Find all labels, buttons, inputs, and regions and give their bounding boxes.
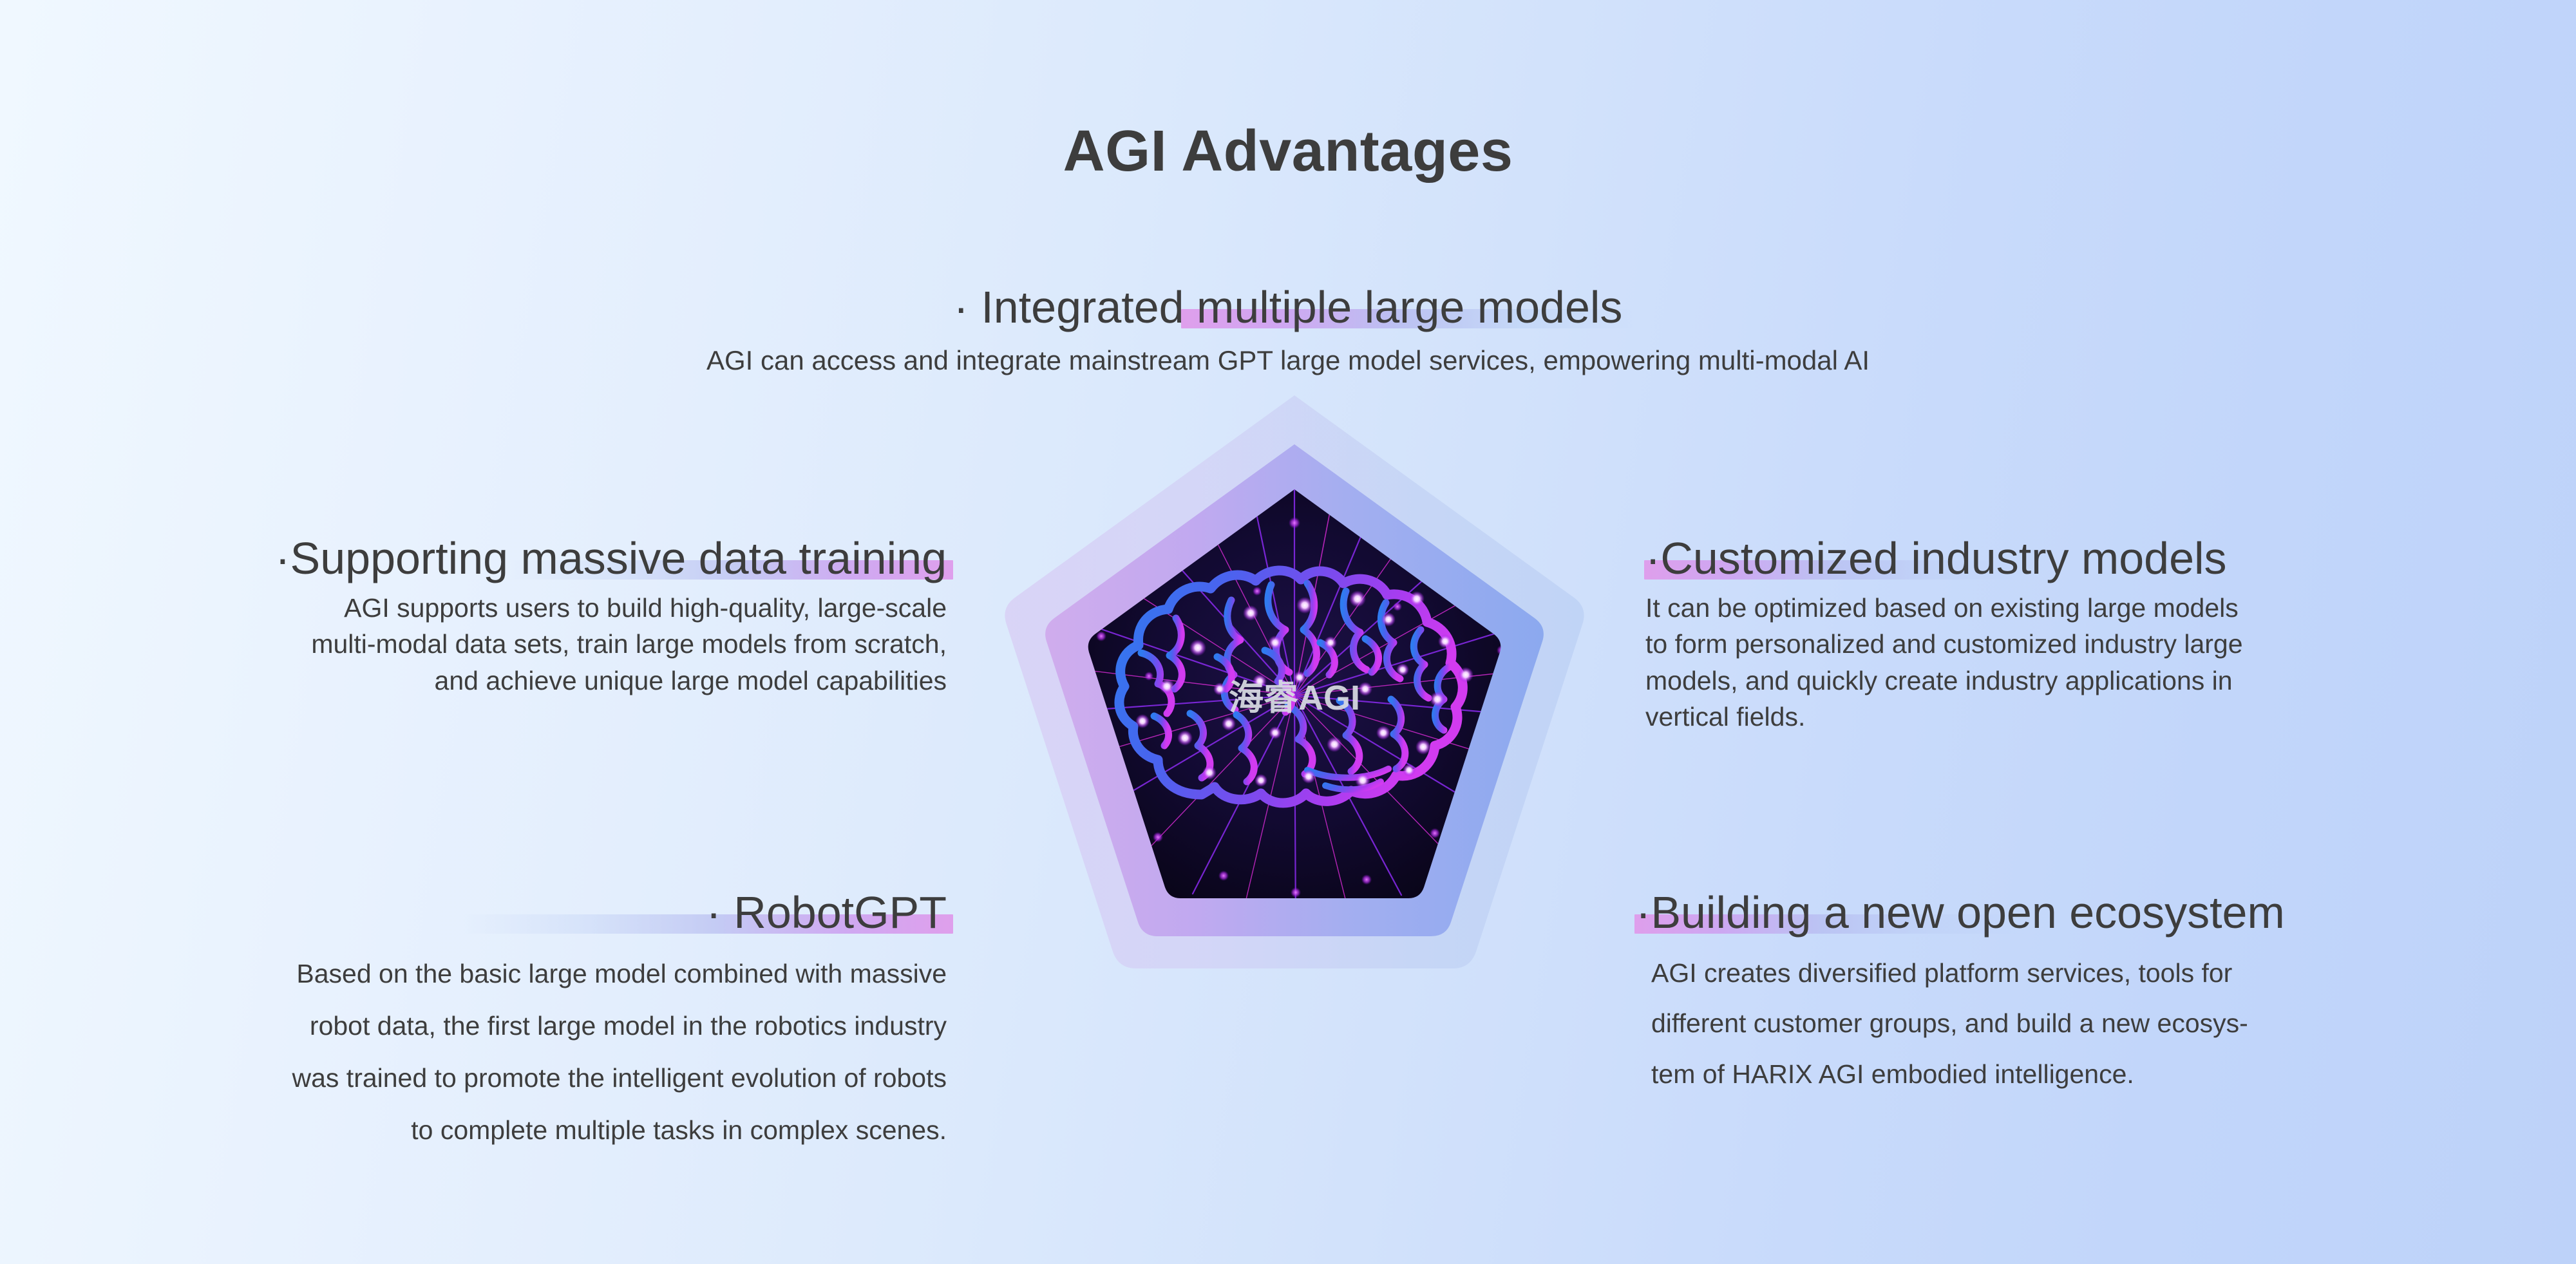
- feature-heading-right-2: ·Building a new open ecosystem: [1636, 887, 2285, 938]
- bullet-dot: ·: [1636, 887, 1651, 938]
- feature-heading-right-1: ·Customized industry models: [1645, 533, 2227, 583]
- agi-pentagon-brain-graphic: 海睿AGI: [1005, 386, 1584, 1095]
- feature-heading-wrap-right-1: ·Customized industry models: [1645, 534, 2227, 583]
- feature-heading-text: RobotGPT: [734, 887, 947, 938]
- feature-heading-text: Building a new open ecosystem: [1651, 887, 2284, 938]
- feature-heading-text: Customized industry models: [1660, 533, 2226, 583]
- feature-heading-top: · Integrated multiple large models: [954, 282, 1623, 332]
- feature-heading-wrap-left-1: ·Supporting massive data training: [275, 534, 947, 583]
- feature-heading-wrap-top: · Integrated multiple large models: [954, 283, 1623, 332]
- feature-block-left-1: ·Supporting massive data training AGI su…: [26, 534, 947, 699]
- feature-heading-left-1: ·Supporting massive data training: [275, 533, 947, 583]
- feature-heading-left-2: · RobotGPT: [706, 887, 947, 938]
- feature-heading-wrap-left-2: · RobotGPT: [706, 889, 947, 938]
- bullet-dot: ·: [1645, 533, 1660, 583]
- center-logo-text: 海睿AGI: [1229, 679, 1360, 717]
- feature-heading-text: Supporting massive data training: [290, 533, 947, 583]
- bullet-dot: ·: [954, 282, 969, 332]
- feature-block-right-2: ·Building a new open ecosystem AGI creat…: [1636, 889, 2563, 1100]
- feature-body-right-2: AGI creates diversified platform service…: [1636, 948, 2563, 1100]
- feature-block-right-1: ·Customized industry models It can be op…: [1645, 534, 2560, 735]
- infographic-canvas: AGI Advantages: [0, 0, 2576, 1264]
- feature-body-left-1: AGI supports users to build high-quality…: [26, 590, 947, 699]
- feature-heading-wrap-right-2: ·Building a new open ecosystem: [1636, 889, 2285, 938]
- feature-body-right-1: It can be optimized based on existing la…: [1645, 590, 2560, 735]
- feature-body-left-2: Based on the basic large model combined …: [26, 948, 947, 1157]
- feature-heading-text: Integrated multiple large models: [981, 282, 1622, 332]
- bullet-dot: ·: [275, 533, 290, 583]
- page-title: AGI Advantages: [0, 122, 2576, 180]
- feature-block-top: · Integrated multiple large models AGI c…: [0, 283, 2576, 380]
- feature-body-top: AGI can access and integrate mainstream …: [0, 341, 2576, 381]
- feature-block-left-2: · RobotGPT Based on the basic large mode…: [26, 889, 947, 1156]
- bullet-dot: ·: [706, 887, 721, 938]
